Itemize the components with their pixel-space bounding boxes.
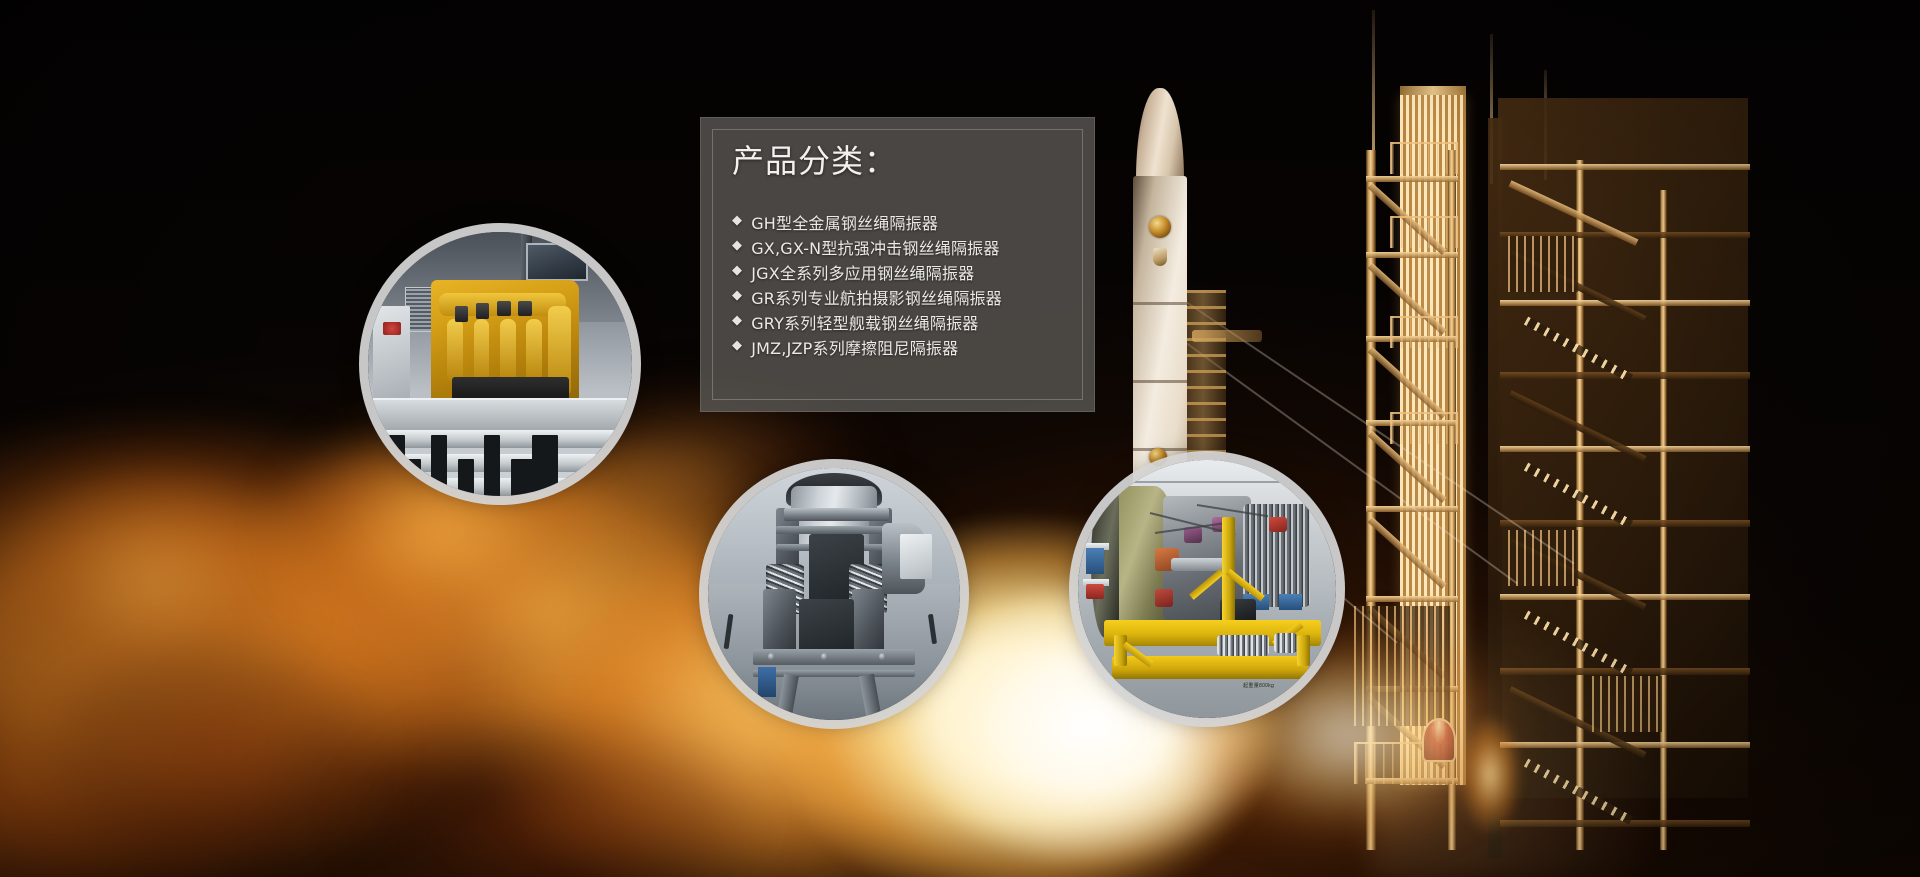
umbilical-arm <box>1192 330 1262 342</box>
tower-railing-cage <box>1390 142 1458 174</box>
rocket-seam <box>1133 302 1187 305</box>
rocket-seam <box>1133 380 1187 383</box>
tower-railing-cage <box>1390 412 1458 444</box>
diamond-bullet-icon: ◆ <box>732 339 742 352</box>
tower-grating <box>1508 236 1578 292</box>
launch-tower <box>1330 0 1750 877</box>
product-category-panel: 产品分类： ◆ GH型全金属钢丝绳隔振器 ◆ GX,GX-N型抗强冲击钢丝绳隔振… <box>700 117 1095 412</box>
tower-beam <box>1366 252 1458 258</box>
list-item[interactable]: ◆ JGX全系列多应用钢丝绳隔振器 <box>732 259 1075 284</box>
product-category-list: ◆ GH型全金属钢丝绳隔振器 ◆ GX,GX-N型抗强冲击钢丝绳隔振器 ◆ JG… <box>732 209 1075 359</box>
list-item-label: GH型全金属钢丝绳隔振器 <box>751 210 938 234</box>
tower-railing-cage <box>1390 216 1458 248</box>
page-title: 产品分类： <box>732 145 897 177</box>
diamond-bullet-icon: ◆ <box>732 289 742 302</box>
list-item-label: GR系列专业航拍摄影钢丝绳隔振器 <box>751 285 1002 309</box>
cart-label-text: 起重量800kg <box>1243 682 1274 689</box>
list-item-label: GX,GX-N型抗强冲击钢丝绳隔振器 <box>751 235 999 259</box>
list-item-label: GRY系列轻型舰载钢丝绳隔振器 <box>751 310 978 334</box>
wire-rope-isolator-mount-photo <box>708 468 960 720</box>
rocket-nose-cone <box>1136 88 1184 184</box>
mission-badge-icon <box>1149 216 1171 238</box>
list-item[interactable]: ◆ GX,GX-N型抗强冲击钢丝绳隔振器 <box>732 234 1075 259</box>
list-item[interactable]: ◆ GRY系列轻型舰载钢丝绳隔振器 <box>732 309 1075 334</box>
diesel-generator-photo <box>368 232 632 496</box>
tower-railing-cage <box>1390 316 1458 348</box>
jet-engine-cart-photo: 起重量800kg <box>1078 460 1336 718</box>
diamond-bullet-icon: ◆ <box>732 214 742 227</box>
tower-antenna <box>1372 10 1375 170</box>
list-item[interactable]: ◆ GH型全金属钢丝绳隔振器 <box>732 209 1075 234</box>
list-item[interactable]: ◆ GR系列专业航拍摄影钢丝绳隔振器 <box>732 284 1075 309</box>
diamond-bullet-icon: ◆ <box>732 314 742 327</box>
list-item-label: JMZ,JZP系列摩擦阻尼隔振器 <box>751 335 958 359</box>
banner-stage: Delta <box>0 0 1920 877</box>
diamond-bullet-icon: ◆ <box>732 264 742 277</box>
list-item[interactable]: ◆ JMZ,JZP系列摩擦阻尼隔振器 <box>732 334 1075 359</box>
tower-beam <box>1366 176 1458 182</box>
agency-shield-icon <box>1153 248 1167 266</box>
diamond-bullet-icon: ◆ <box>732 239 742 252</box>
list-item-label: JGX全系列多应用钢丝绳隔振器 <box>751 260 974 284</box>
tower-platform <box>1500 164 1750 170</box>
tower-glow-haze <box>1370 600 1670 877</box>
